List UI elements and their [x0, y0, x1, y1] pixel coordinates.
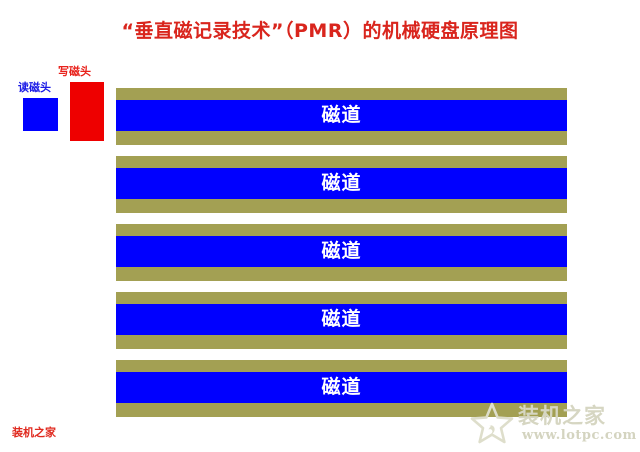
track-stripe: 磁道 — [116, 372, 567, 403]
track-band: 磁道 — [116, 292, 567, 349]
platter-track-stack: 磁道 磁道 磁道 磁道 磁道 — [116, 88, 567, 417]
track-stripe-label: 磁道 — [321, 310, 361, 329]
track-stripe-label: 磁道 — [321, 106, 361, 125]
track-stripe-label: 磁道 — [321, 242, 361, 261]
track-band: 磁道 — [116, 360, 567, 417]
diagram-canvas: “垂直磁记录技术”（PMR）的机械硬盘原理图 读磁头 写磁头 磁道 磁道 磁道 … — [0, 0, 640, 452]
track-band: 磁道 — [116, 156, 567, 213]
track-stripe: 磁道 — [116, 304, 567, 335]
write-head-block-icon — [70, 82, 104, 141]
page-title: “垂直磁记录技术”（PMR）的机械硬盘原理图 — [0, 16, 640, 43]
write-head-label: 写磁头 — [58, 63, 91, 79]
track-stripe-label: 磁道 — [321, 378, 361, 397]
read-head-label: 读磁头 — [18, 79, 51, 95]
track-stripe: 磁道 — [116, 168, 567, 199]
track-stripe: 磁道 — [116, 100, 567, 131]
watermark-url: www.lotpc.com — [522, 428, 637, 443]
track-stripe-label: 磁道 — [321, 174, 361, 193]
track-band: 磁道 — [116, 224, 567, 281]
read-head-block-icon — [23, 98, 58, 131]
track-band: 磁道 — [116, 88, 567, 145]
brand-mark: 装机之家 — [12, 424, 56, 440]
track-stripe: 磁道 — [116, 236, 567, 267]
